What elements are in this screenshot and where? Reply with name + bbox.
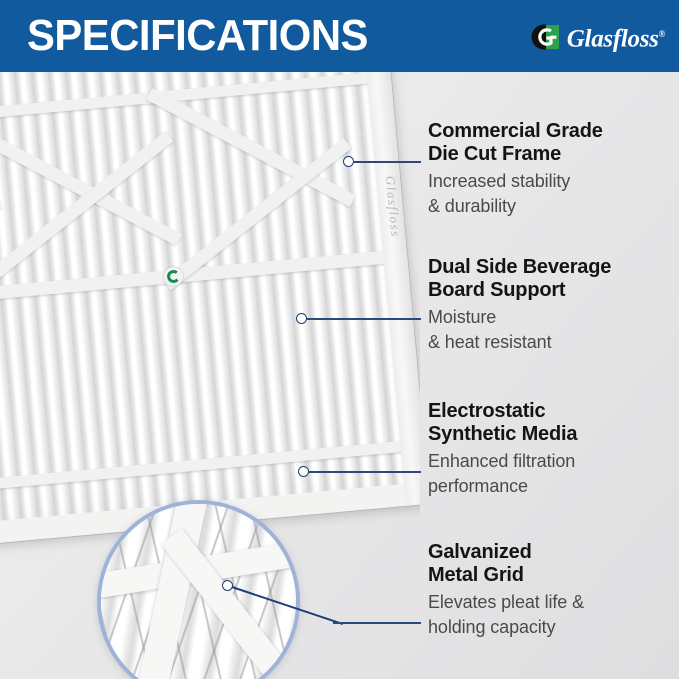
page-title: SPECIFICATIONS <box>27 11 368 61</box>
callout-3: Electrostatic Synthetic Media Enhanced f… <box>428 400 577 499</box>
callout-1-sub: Increased stability & durability <box>428 169 603 219</box>
product-photo: Glasfloss <box>0 72 420 679</box>
air-filter-body: Glasfloss <box>0 72 420 546</box>
leader-stroke-1 <box>353 161 421 163</box>
callout-1: Commercial Grade Die Cut Frame Increased… <box>428 120 603 219</box>
callout-2-sub-line2: & heat resistant <box>428 330 611 355</box>
registered-mark: ® <box>659 29 665 39</box>
callout-4-title-line1: Galvanized <box>428 541 584 564</box>
callout-1-title-line1: Commercial Grade <box>428 120 603 143</box>
callout-3-title-line2: Synthetic Media <box>428 423 577 446</box>
callout-2: Dual Side Beverage Board Support Moistur… <box>428 256 611 355</box>
callout-2-sub: Moisture & heat resistant <box>428 305 611 355</box>
callout-3-sub: Enhanced filtration performance <box>428 449 577 499</box>
callout-4-sub: Elevates pleat life & holding capacity <box>428 590 584 640</box>
callout-3-sub-line1: Enhanced filtration <box>428 449 577 474</box>
brand-wordmark: Glasfloss® <box>567 20 665 53</box>
callout-3-title: Electrostatic Synthetic Media <box>428 400 577 446</box>
callout-4-sub-line1: Elevates pleat life & <box>428 590 584 615</box>
brand-logo: Glasfloss® <box>531 22 665 52</box>
callout-3-title-line1: Electrostatic <box>428 400 577 423</box>
callout-1-title: Commercial Grade Die Cut Frame <box>428 120 603 166</box>
glasfloss-g-mark-icon <box>531 23 565 51</box>
frame-brand-text: Glasfloss <box>382 175 404 238</box>
leader-stroke-2 <box>306 318 421 320</box>
callout-2-title-line2: Board Support <box>428 279 611 302</box>
brand-name-text: Glasfloss <box>567 26 659 53</box>
callout-2-sub-line1: Moisture <box>428 305 611 330</box>
callout-4-sub-line2: holding capacity <box>428 615 584 640</box>
callout-2-title-line1: Dual Side Beverage <box>428 256 611 279</box>
callout-1-title-line2: Die Cut Frame <box>428 143 603 166</box>
leader-stroke-3 <box>308 471 421 473</box>
callout-4-title-line2: Metal Grid <box>428 564 584 587</box>
callout-4: Galvanized Metal Grid Elevates pleat lif… <box>428 541 584 640</box>
header-bar: SPECIFICATIONS Glasfloss® <box>0 0 679 72</box>
callout-3-sub-line2: performance <box>428 474 577 499</box>
callout-1-sub-line2: & durability <box>428 194 603 219</box>
callout-1-sub-line1: Increased stability <box>428 169 603 194</box>
callout-4-title: Galvanized Metal Grid <box>428 541 584 587</box>
specifications-infographic: SPECIFICATIONS Glasfloss® <box>0 0 679 679</box>
die-cut-frame <box>0 72 420 546</box>
callout-2-title: Dual Side Beverage Board Support <box>428 256 611 302</box>
leader-stroke-4-horizontal <box>333 622 421 624</box>
magnified-inset <box>97 500 300 679</box>
